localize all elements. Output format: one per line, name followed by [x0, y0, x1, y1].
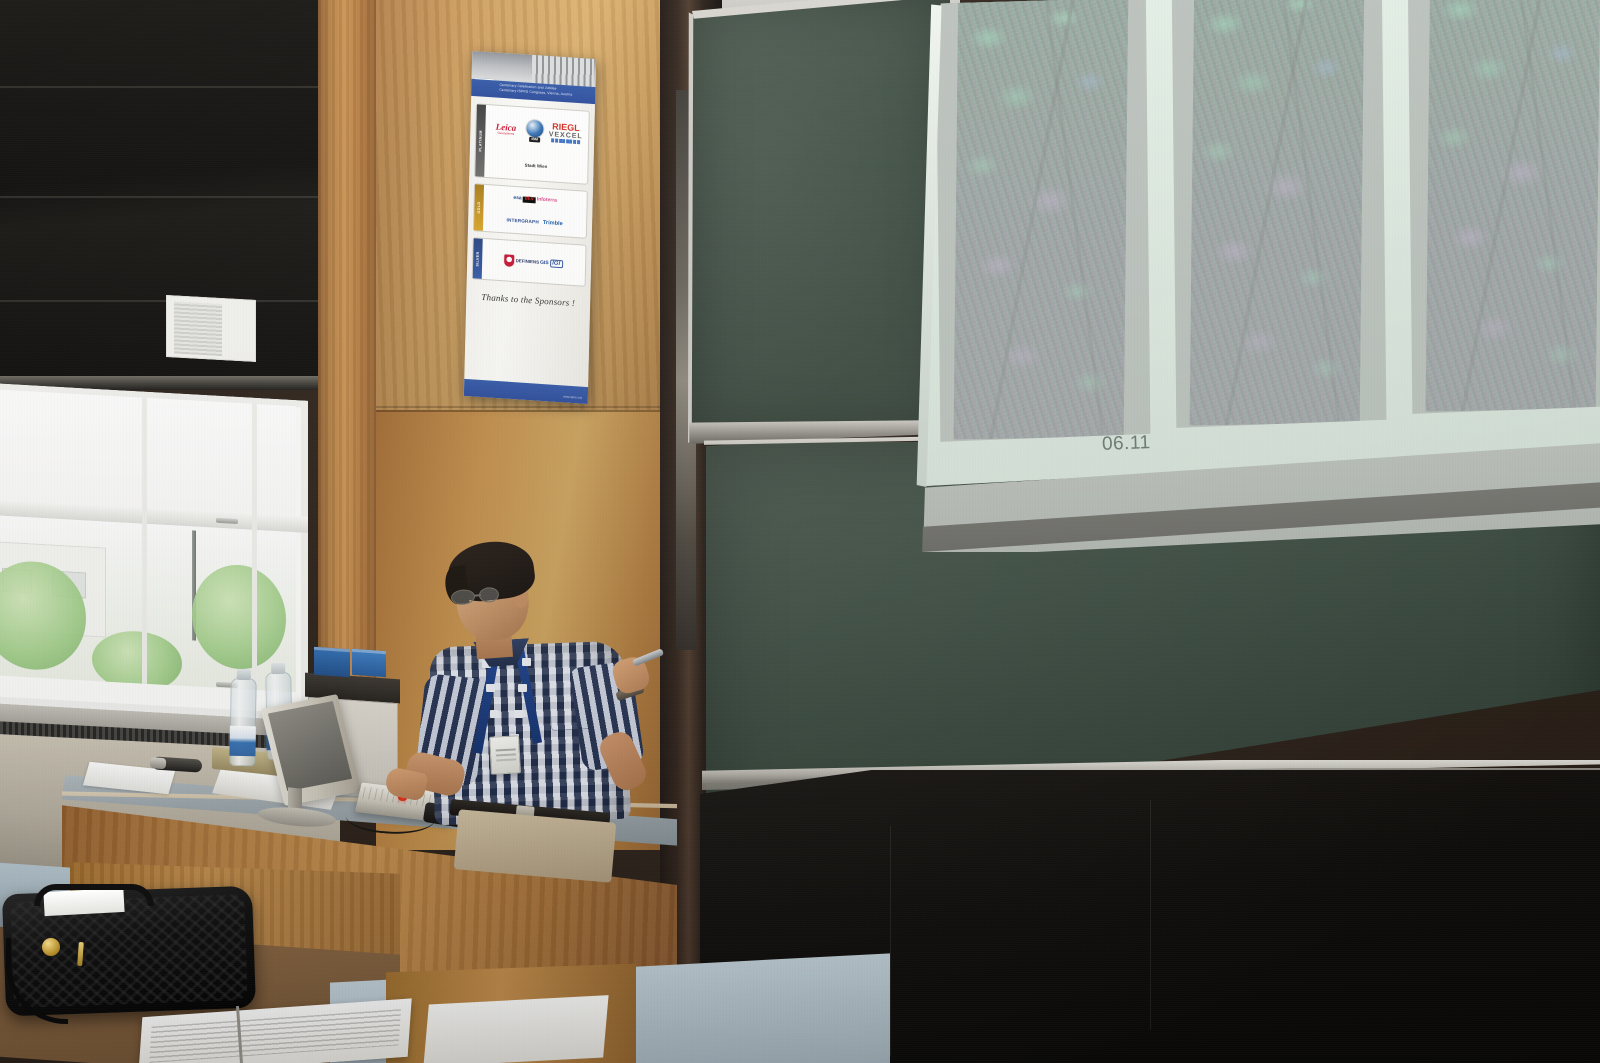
monitor-screen [268, 701, 352, 791]
platinum-logo-row: Leica Geosystems IBM RIEGL VEXCEL Stadt … [484, 105, 589, 184]
sar-image [954, 0, 1129, 440]
logo-ibm: IBM [529, 137, 540, 142]
sponsor-poster: isprs 1910 - 2010 Centenary Celebration … [464, 51, 596, 404]
logo-stadt-wien: Stadt Wien [487, 161, 586, 172]
logo-globe-icon [526, 120, 543, 138]
lecture-hall-photo: 06.11 isprs 1910 - 2010 Centenary Celebr… [0, 0, 1600, 1063]
sar-image-panel [1408, 0, 1600, 414]
logo-intergraph: INTERGRAPH [506, 218, 538, 226]
silver-logo-row: DEFINIENS GIS IGI TU Wien [482, 239, 586, 286]
logo-vexcel-dots [552, 138, 580, 144]
window-mullion [142, 398, 147, 684]
projection-screen: 06.11 [916, 0, 1600, 552]
logo-leica-geosystems: Geosystems [497, 132, 514, 136]
logo-igi: IGI [550, 259, 563, 268]
slide-content: 06.11 [916, 0, 1600, 512]
paper-sheet[interactable] [423, 995, 608, 1063]
logo-tu-wien-icon [505, 254, 515, 267]
logo-trimble: Trimble [543, 220, 563, 227]
bottle-cap [271, 663, 285, 674]
water-bottle[interactable] [229, 678, 257, 766]
slide-caption: 06.11 [1102, 432, 1151, 456]
exterior-shrub [92, 629, 182, 692]
sponsor-tier-silver: SILVER DEFINIENS GIS IGI TU Wien [472, 237, 587, 287]
logo-gis: GIS [540, 260, 549, 266]
shirt-pocket [549, 695, 591, 731]
bottle-cap [237, 669, 251, 680]
name-badge [489, 735, 521, 775]
handbag-handle[interactable] [34, 884, 154, 906]
lens-left [450, 589, 475, 606]
window-mullion [252, 404, 257, 690]
gold-logo-row: esa BEV Infoterra INTERGRAPH Trimble [483, 185, 587, 238]
sponsor-tier-gold: GOLD esa BEV Infoterra INTERGRAPH Trimbl… [473, 183, 588, 239]
blackout-blinds [0, 0, 322, 390]
logo-infoterra: Infoterra [537, 198, 557, 204]
logo-esa: esa [513, 196, 521, 202]
poster-thanks-text: Thanks to the Sponsors ! [466, 291, 590, 309]
window [0, 383, 308, 721]
exterior-tree [192, 562, 286, 671]
sar-image-panel [1172, 0, 1387, 428]
bottle-label [229, 726, 256, 756]
sar-image-panel [936, 0, 1151, 442]
storage-box[interactable] [352, 649, 386, 677]
storage-box[interactable] [314, 647, 350, 678]
logo-bev: BEV [523, 196, 536, 203]
sponsor-tier-platinum: PLATINUM Leica Geosystems IBM RIEGL VEXC… [474, 103, 590, 185]
sar-image [1190, 0, 1365, 426]
sar-image [1426, 0, 1600, 412]
logo-definiens: DEFINIENS [516, 259, 539, 265]
wood-pillar [318, 0, 378, 700]
lens-right [478, 587, 499, 604]
chalkboard-top-panel [688, 0, 950, 442]
exterior-window-blind [174, 301, 222, 356]
presenter [418, 536, 648, 856]
